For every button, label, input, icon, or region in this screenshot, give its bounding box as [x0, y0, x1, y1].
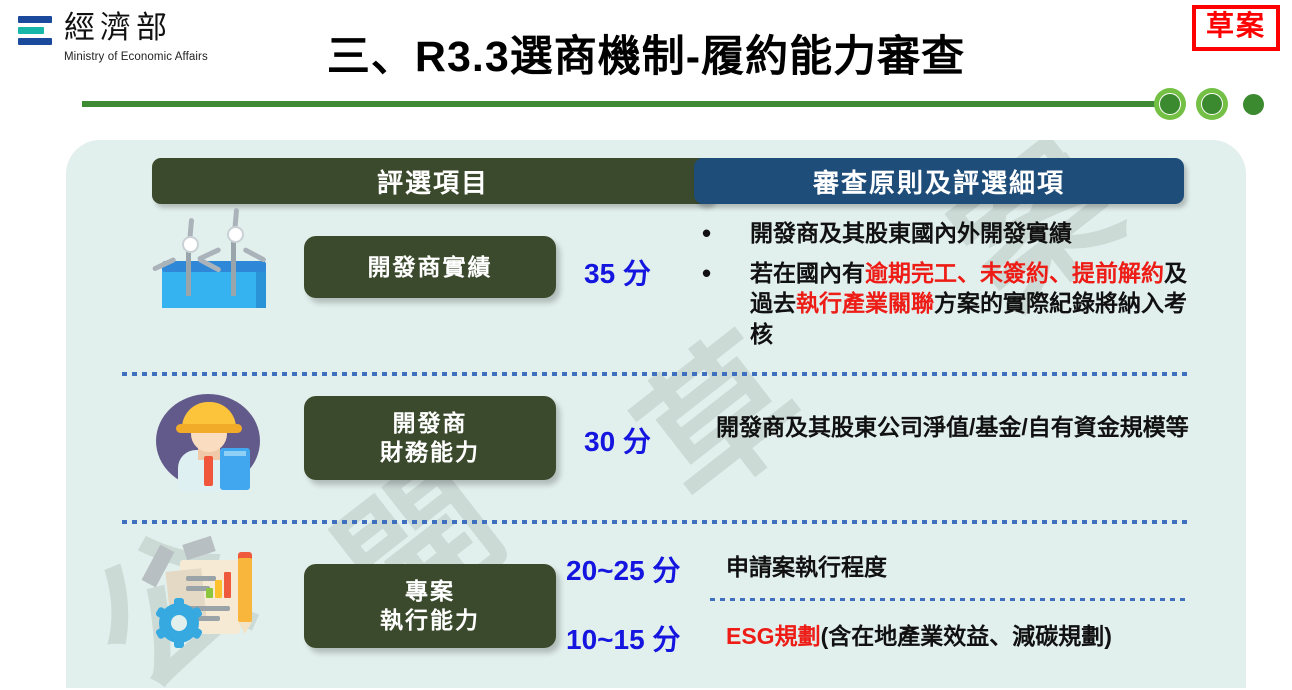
- detail-text: (含在地產業效益、減碳規劃): [821, 623, 1112, 649]
- table-row: 開發商 財務能力 30 分 開發商及其股東公司淨值/基金/自有資金規模等: [66, 388, 1246, 523]
- category-pill-financial-capability: 開發商 財務能力: [304, 396, 556, 480]
- header-divider-line: [82, 101, 1155, 107]
- slide-header: 經濟部 Ministry of Economic Affairs 三、R3.3選…: [0, 0, 1292, 128]
- table-row: 專案 執行能力 20~25 分 申請案執行程度 10~15 分 ESG規劃(含在…: [66, 536, 1246, 688]
- decoration-circle-ring-1: [1154, 88, 1186, 120]
- draft-badge: 草案: [1192, 5, 1280, 51]
- category-label-line2: 財務能力: [380, 438, 480, 467]
- detail-text-row-3a: 申請案執行程度: [726, 552, 1196, 583]
- criteria-table: 評選項目 審查原則及評選細項 開發商實績: [66, 140, 1246, 688]
- category-label-line2: 執行能力: [380, 606, 480, 635]
- table-row: 開發商實績 35 分 開發商及其股東國內外開發實績 若在國內有逾期完工、未簽約、…: [66, 212, 1246, 365]
- column-header-evaluation-item: 評選項目: [152, 158, 714, 204]
- offshore-wind-farm-icon: [156, 212, 272, 316]
- bullet-text-highlight: 逾期完工、未簽約、提前解約: [865, 260, 1164, 286]
- decoration-circle-ring-2: [1196, 88, 1228, 120]
- category-label-line1: 專案: [405, 577, 455, 606]
- detail-text-row-3b: ESG規劃(含在地產業效益、減碳規劃): [726, 621, 1206, 652]
- list-item: 若在國內有逾期完工、未簽約、提前解約及過去執行產業關聯方案的實際紀錄將納入考核: [694, 258, 1202, 350]
- score-value-row-3a: 20~25 分: [566, 549, 680, 589]
- bullet-text-highlight: 執行產業關聯: [796, 290, 934, 316]
- detail-text-highlight: ESG規劃: [726, 623, 821, 649]
- page-title: 三、R3.3選商機制-履約能力審查: [0, 22, 1292, 84]
- bullet-text: 若在國內有: [750, 260, 865, 286]
- decoration-circle-solid: [1243, 94, 1264, 115]
- category-pill-project-execution: 專案 執行能力: [304, 564, 556, 648]
- list-item: 開發商及其股東國內外開發實績: [694, 218, 1202, 249]
- bullet-text: 開發商及其股東國內外開發實績: [750, 220, 1072, 246]
- project-document-gear-icon: [150, 540, 266, 644]
- engineer-avatar-icon: [156, 388, 272, 492]
- category-pill-developer-record: 開發商實績: [304, 236, 556, 298]
- header-dot-decoration: [1154, 88, 1274, 122]
- criteria-panel: 案 草 開 公 評選項目 審查原則及評選細項: [66, 140, 1246, 688]
- detail-text: 申請案執行程度: [726, 554, 887, 580]
- category-label-line1: 開發商: [393, 409, 468, 438]
- score-value-row-2: 30 分: [584, 420, 651, 460]
- detail-text-row-2: 開發商及其股東公司淨值/基金/自有資金規模等: [716, 412, 1216, 443]
- row-divider-3-inner: [710, 598, 1190, 601]
- column-header-review-principles: 審查原則及評選細項: [694, 158, 1184, 204]
- detail-text-row-1: 開發商及其股東國內外開發實績 若在國內有逾期完工、未簽約、提前解約及過去執行產業…: [694, 218, 1202, 358]
- score-value-row-1: 35 分: [584, 252, 651, 292]
- score-value-row-3b: 10~15 分: [566, 618, 680, 658]
- row-divider-1: [122, 372, 1190, 376]
- category-label: 開發商實績: [368, 253, 493, 282]
